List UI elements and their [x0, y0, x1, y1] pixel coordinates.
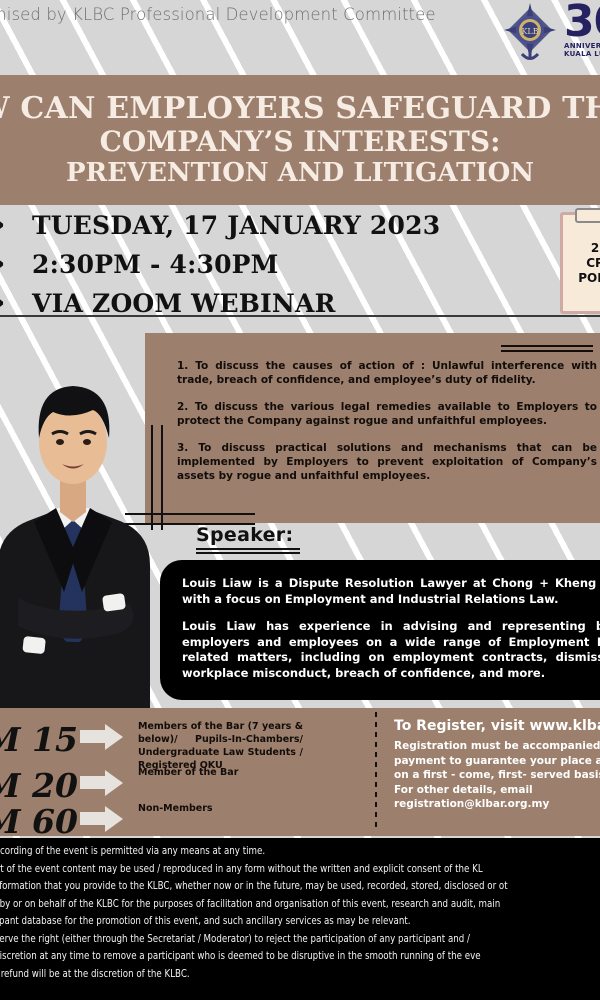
fee-row: M 20 Member of the Bar — [0, 766, 303, 805]
speaker-heading: Speaker: — [196, 524, 300, 554]
registration-line: on a first - come, first- served basis. — [394, 768, 600, 783]
logo-group: KLB 30 ANNIVERSARY KUALA LUMPUR — [500, 2, 600, 64]
organiser-text: ganised by KLBC Professional Development… — [0, 5, 496, 24]
clipboard-clip-icon — [575, 208, 600, 223]
event-time: 2:30PM - 4:30PM — [32, 250, 279, 279]
agenda-line-decoration — [501, 345, 593, 355]
speaker-bio-panel: Louis Liaw is a Dispute Resolution Lawye… — [160, 560, 600, 700]
event-platform: VIA ZOOM WEBINAR — [32, 289, 336, 318]
agenda-item: 1. To discuss the causes of action of : … — [177, 359, 597, 387]
terms-line: e discretion at any time to remove a par… — [0, 949, 551, 965]
agenda-item: 2. To discuss the various legal remedies… — [177, 400, 597, 428]
event-poster: ganised by KLBC Professional Development… — [0, 0, 600, 1000]
cpd-points-badge: 2 CP POIN — [560, 212, 600, 314]
registration-title[interactable]: To Register, visit www.klbar.or — [394, 718, 600, 734]
speaker-bio-paragraph: Louis Liaw is a Dispute Resolution Lawye… — [182, 576, 600, 607]
terms-line: ticipant database for the promotion of t… — [0, 914, 551, 930]
terms-line: reserve the right (either through the Se… — [0, 932, 551, 948]
detail-row-time: » 2:30PM - 4:30PM — [0, 249, 546, 279]
detail-row-date: » TUESDAY, 17 JANUARY 2023 — [0, 210, 546, 240]
svg-text:KLB: KLB — [521, 27, 538, 36]
fee-row: M 15 Members of the Bar (7 years & below… — [0, 720, 303, 772]
registration-email[interactable]: registration@klbar.org.my — [394, 797, 600, 812]
arrow-right-icon — [80, 806, 128, 832]
event-date: TUESDAY, 17 JANUARY 2023 — [32, 211, 440, 240]
klbc-compass-logo-icon: KLB — [500, 2, 560, 64]
terms-line: part of the event content may be used / … — [0, 862, 551, 878]
speaker-bio-paragraph: Louis Liaw has experience in advising an… — [182, 619, 600, 681]
title-line-2: COMPANY’S INTERESTS: — [100, 127, 501, 157]
fee-description: Non-Members — [138, 802, 303, 815]
dotted-divider — [375, 712, 377, 832]
cpd-points-value: 2 — [591, 241, 599, 256]
cpd-label-line1: CP — [586, 256, 600, 271]
terms-line: cording of the event is permitted via an… — [0, 844, 552, 860]
title-line-1: OW CAN EMPLOYERS SAFEGUARD THEI — [0, 93, 600, 125]
anniversary-badge: 30 ANNIVERSARY KUALA LUMPUR — [564, 2, 600, 64]
registration-line: Registration must be accompanied wit — [394, 739, 600, 754]
fee-amount: M 15 — [0, 720, 80, 759]
crosshatch-decoration — [143, 425, 273, 530]
fee-description: Members of the Bar (7 years & below)/ Pu… — [138, 720, 303, 772]
anniversary-label-1: ANNIVERSARY — [564, 42, 600, 50]
fee-row: M 60 Non-Members — [0, 802, 303, 841]
fee-amount: M 20 — [0, 766, 80, 805]
arrow-right-icon — [80, 770, 128, 796]
detail-row-platform: » VIA ZOOM WEBINAR — [0, 288, 546, 318]
terms-line: l information that you provide to the KL… — [0, 879, 551, 895]
event-details: » TUESDAY, 17 JANUARY 2023 » 2:30PM - 4:… — [0, 210, 546, 327]
terms-and-conditions: cording of the event is permitted via an… — [0, 838, 600, 1000]
fee-description: Member of the Bar — [138, 766, 303, 779]
terms-line: ed by or on behalf of the KLBC for the p… — [0, 897, 551, 913]
cpd-label-line2: POIN — [578, 271, 600, 286]
arrow-right-icon — [80, 724, 128, 750]
chevron-icon: » — [0, 288, 32, 318]
chevron-icon: » — [0, 210, 32, 240]
registration-info: To Register, visit www.klbar.or Registra… — [394, 718, 600, 812]
registration-line: payment to guarantee your place and — [394, 754, 600, 769]
poster-header: ganised by KLBC Professional Development… — [0, 0, 600, 70]
divider-line — [0, 315, 600, 317]
fee-amount: M 60 — [0, 802, 80, 841]
terms-line: for refund will be at the discretion of … — [0, 967, 551, 983]
anniversary-number: 30 — [564, 2, 600, 42]
speaker-heading-label: Speaker: — [196, 524, 293, 546]
registration-line: For other details, email — [394, 783, 600, 798]
speaker-photo — [0, 350, 154, 735]
anniversary-label-2: KUALA LUMPUR — [564, 50, 600, 58]
event-title-band: OW CAN EMPLOYERS SAFEGUARD THEI COMPANY’… — [0, 75, 600, 205]
title-line-3: PREVENTION AND LITIGATION — [66, 159, 534, 187]
chevron-icon: » — [0, 249, 32, 279]
